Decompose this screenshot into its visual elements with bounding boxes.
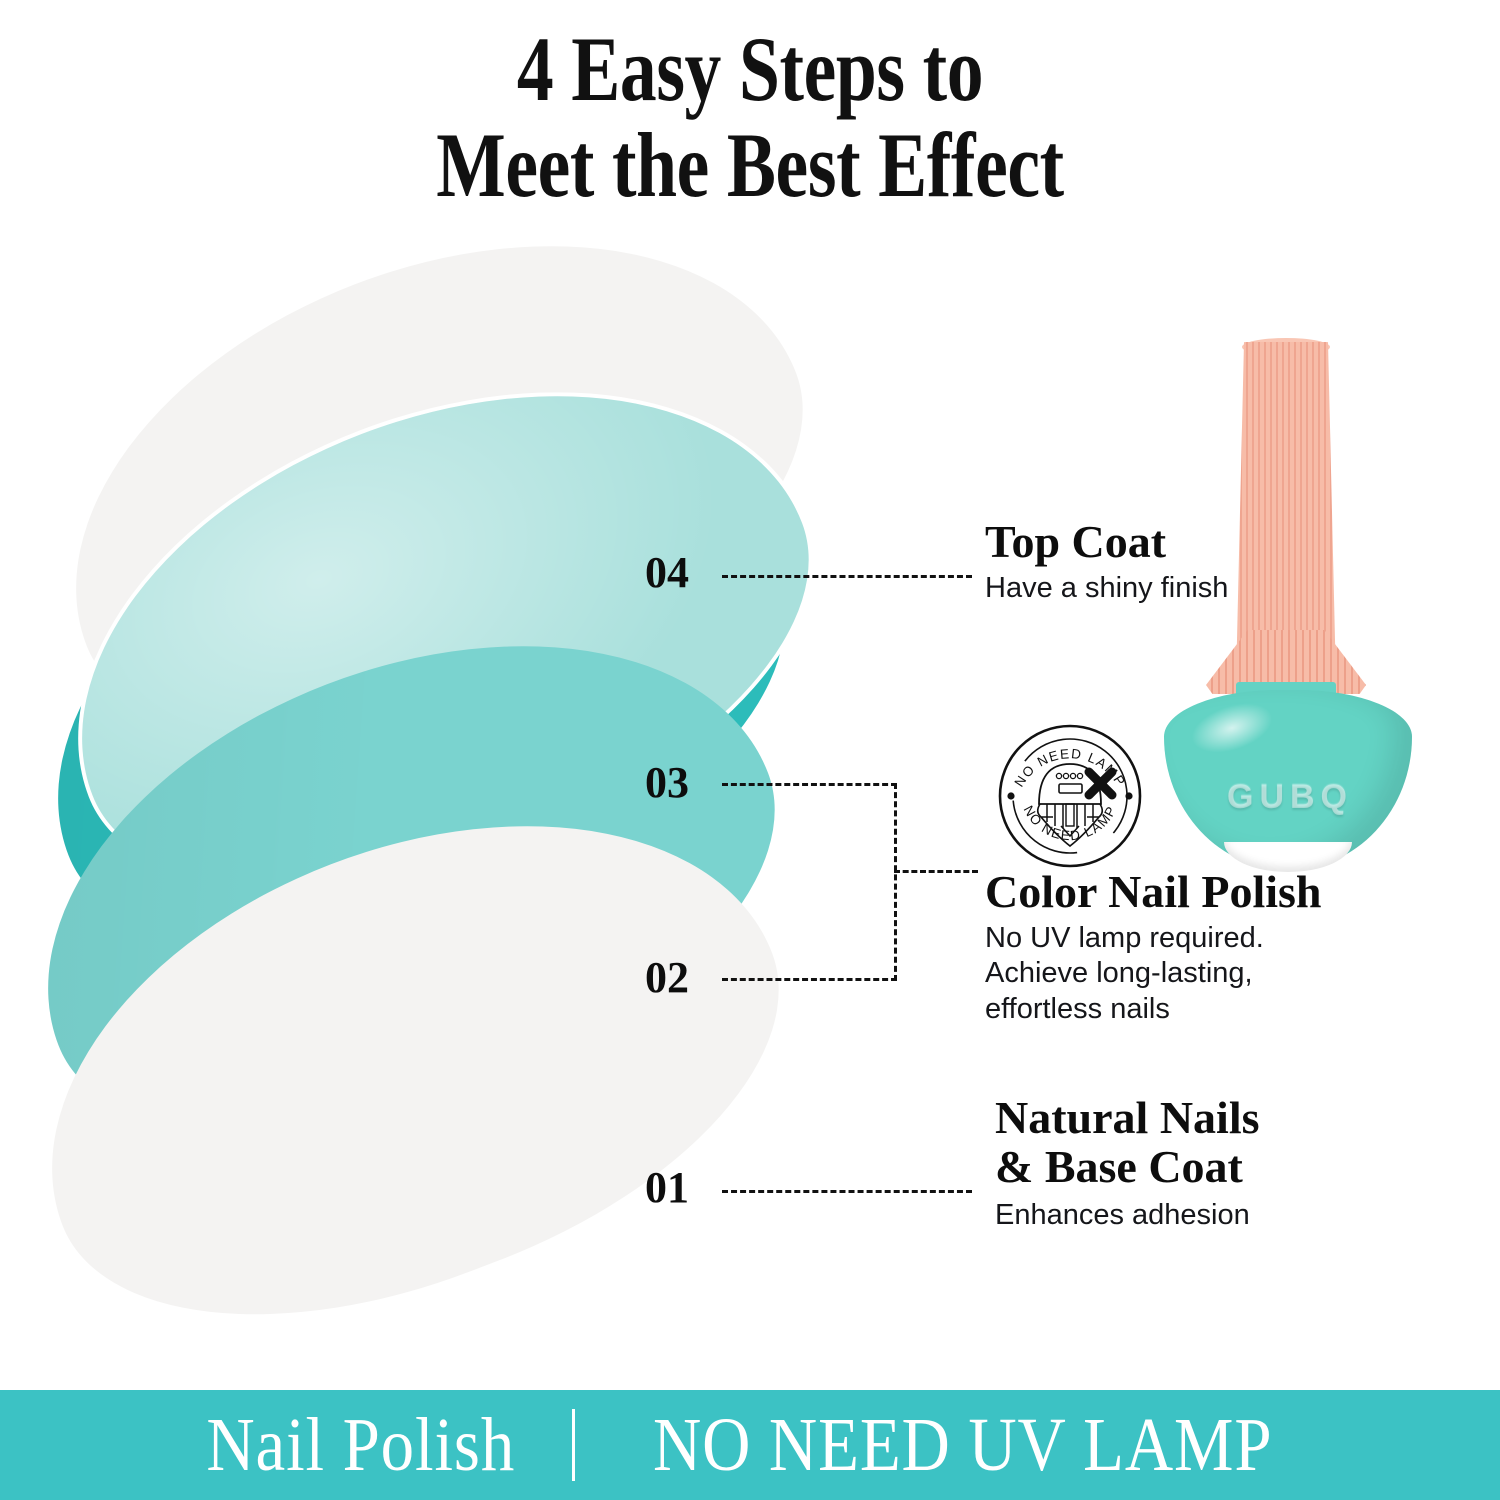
connector-line-03 bbox=[722, 783, 897, 786]
nail-polish-bottle: GUBQ bbox=[1140, 330, 1440, 880]
svg-text:NO NEED LAMP: NO NEED LAMP bbox=[1021, 803, 1120, 843]
callout-natural-sub: Enhances adhesion bbox=[995, 1198, 1260, 1233]
callout-color-sub-line-2: Achieve long-lasting, bbox=[985, 956, 1322, 991]
title-line-1: 4 Easy Steps to bbox=[517, 18, 983, 120]
bottle-brand-label: GUBQ bbox=[1140, 778, 1440, 817]
callout-natural-nails: Natural Nails & Base Coat Enhances adhes… bbox=[995, 1094, 1260, 1233]
connector-line-02 bbox=[722, 978, 897, 981]
connector-line-01 bbox=[722, 1190, 972, 1193]
step-number-03: 03 bbox=[645, 757, 689, 808]
bottle-base-rim bbox=[1224, 842, 1352, 872]
infographic-canvas: 4 Easy Steps to Meet the Best Effect 04 … bbox=[0, 0, 1500, 1500]
banner-left-text: Nail Polish bbox=[206, 1402, 548, 1489]
step-number-02: 02 bbox=[645, 952, 689, 1003]
callout-natural-heading-line-1: Natural Nails bbox=[995, 1094, 1260, 1143]
title-line-2: Meet the Best Effect bbox=[150, 118, 1350, 214]
connector-bracket-stub bbox=[894, 870, 978, 873]
page-title: 4 Easy Steps to Meet the Best Effect bbox=[150, 22, 1350, 213]
banner-divider bbox=[572, 1409, 575, 1481]
no-need-lamp-stamp: NO NEED LAMP NO NEED LAMP bbox=[995, 718, 1145, 873]
connector-line-04 bbox=[722, 575, 972, 578]
callout-color-sub-line-3: effortless nails bbox=[985, 992, 1322, 1027]
step-number-01: 01 bbox=[645, 1162, 689, 1213]
banner-right-text: NO NEED UV LAMP bbox=[620, 1402, 1273, 1489]
callout-color-nail-polish: Color Nail Polish No UV lamp required. A… bbox=[985, 868, 1322, 1027]
callout-natural-heading-line-2: & Base Coat bbox=[995, 1143, 1260, 1192]
bottom-banner: Nail Polish NO NEED UV LAMP bbox=[0, 1390, 1500, 1500]
callout-color-sub-line-1: No UV lamp required. bbox=[985, 921, 1322, 956]
connector-bracket-vertical bbox=[894, 783, 897, 981]
step-number-04: 04 bbox=[645, 547, 689, 598]
stamp-bottom-text: NO NEED LAMP bbox=[1021, 803, 1120, 843]
nail-layer-stack bbox=[0, 250, 880, 1330]
